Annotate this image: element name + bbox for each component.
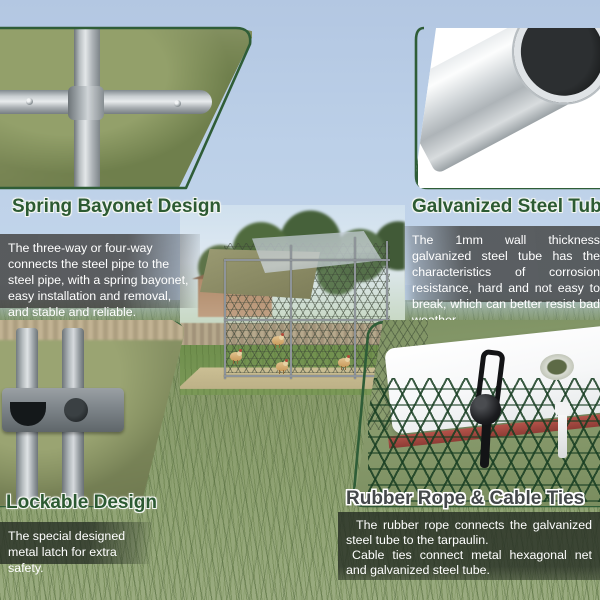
feature-panel-galvanized-tube	[416, 28, 600, 188]
rubber-rope-ball	[470, 394, 501, 425]
chicken	[276, 361, 288, 374]
latch-slot	[10, 402, 46, 426]
coop-post	[290, 245, 292, 379]
heading-galvanized-tube: Galvanized Steel Tube	[412, 196, 600, 218]
galvanized-tube-photo	[416, 28, 600, 188]
spring-bayonet-rivet	[26, 98, 33, 105]
bayonet-joint-collar	[68, 86, 104, 120]
infographic-canvas: Spring Bayonet Design The three-way or f…	[0, 0, 600, 600]
body-text-line-1: The rubber rope connects the galvanized …	[346, 518, 592, 548]
lockable-design-photo	[0, 320, 184, 506]
feature-panel-spring-bayonet	[0, 28, 252, 188]
body-galvanized-tube: The 1mm wall thickness galvanized steel …	[404, 226, 600, 302]
body-lockable-design: The special designed metal latch for ext…	[0, 522, 152, 564]
chicken	[230, 351, 242, 364]
feature-panel-lockable-design	[0, 320, 184, 506]
body-spring-bayonet: The three-way or four-way connects the s…	[0, 234, 200, 308]
horizontal-steel-tube-right	[94, 90, 212, 114]
rubber-rope-photo	[352, 320, 600, 506]
spring-bayonet-photo	[0, 28, 252, 188]
heading-rubber-rope: Rubber Rope & Cable Ties	[346, 488, 584, 510]
rubber-rope-ball-tie	[468, 350, 502, 470]
body-text: The special designed metal latch for ext…	[8, 528, 144, 576]
heading-spring-bayonet: Spring Bayonet Design	[12, 196, 221, 218]
heading-lockable-design: Lockable Design	[6, 492, 157, 514]
rubber-rope-tail	[480, 420, 491, 468]
body-text-line-2: Cable ties connect metal hexagonal net a…	[346, 548, 592, 578]
body-text: The three-way or four-way connects the s…	[8, 240, 192, 320]
body-rubber-rope: The rubber rope connects the galvanized …	[338, 512, 600, 580]
chicken	[272, 335, 284, 348]
coop-beam	[224, 259, 390, 261]
metal-latch	[2, 388, 124, 432]
feature-panel-rubber-rope	[352, 320, 600, 506]
chicken	[338, 357, 350, 370]
tube-open-end	[496, 28, 600, 120]
white-cable-tie	[558, 408, 567, 458]
spring-bayonet-rivet	[174, 100, 181, 107]
galvanized-steel-tube-graphic	[416, 28, 600, 174]
latch-lock-hole	[64, 398, 88, 422]
body-text: The 1mm wall thickness galvanized steel …	[412, 232, 600, 328]
